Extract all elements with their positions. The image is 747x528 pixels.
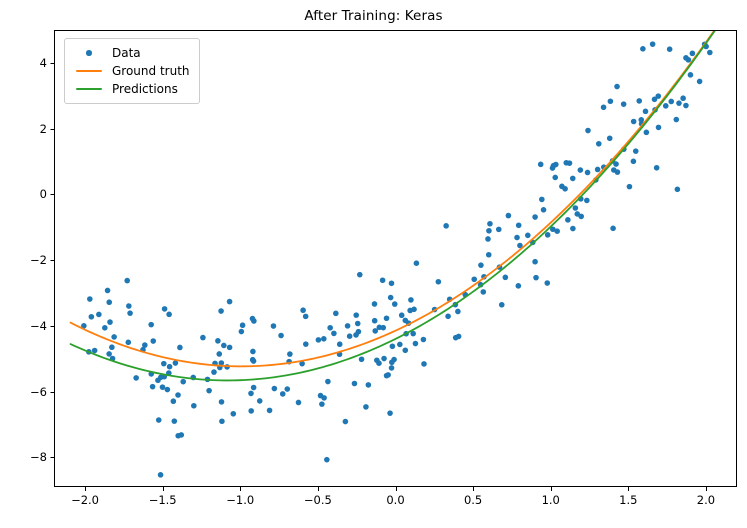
- data-point: [525, 233, 531, 239]
- data-point: [89, 314, 95, 320]
- legend-item-ground-truth: Ground truth: [72, 62, 190, 80]
- data-point: [544, 280, 550, 286]
- y-tick-mark: [51, 260, 55, 261]
- data-point: [688, 72, 694, 78]
- data-point: [240, 322, 246, 328]
- data-point: [324, 457, 330, 463]
- data-point: [250, 349, 256, 355]
- data-point: [372, 318, 378, 324]
- data-point: [614, 84, 620, 90]
- data-point: [539, 197, 545, 203]
- data-scatter-layer: [81, 41, 713, 477]
- data-point: [257, 398, 263, 404]
- data-point: [175, 392, 181, 398]
- x-tick-label: 0.5: [464, 493, 482, 507]
- data-point: [596, 141, 602, 147]
- data-point: [216, 351, 222, 357]
- data-point: [165, 387, 171, 393]
- y-tick-label: −4: [30, 319, 47, 333]
- data-point: [631, 119, 637, 125]
- data-point: [389, 365, 395, 371]
- data-point: [421, 337, 427, 343]
- data-point: [325, 379, 331, 385]
- data-point: [408, 297, 414, 303]
- data-point: [707, 50, 713, 56]
- data-point: [392, 301, 398, 307]
- data-point: [372, 328, 378, 334]
- data-point: [353, 312, 359, 318]
- y-tick-mark: [51, 457, 55, 458]
- data-point: [644, 130, 650, 136]
- data-point: [239, 329, 245, 335]
- data-point: [506, 213, 512, 219]
- data-point: [683, 103, 689, 109]
- data-point: [180, 379, 186, 385]
- x-tick-label: −0.5: [304, 493, 332, 507]
- data-point: [640, 46, 646, 52]
- data-point: [303, 314, 309, 320]
- data-point: [443, 223, 449, 229]
- data-point: [496, 227, 502, 233]
- data-point: [150, 338, 156, 344]
- data-point: [124, 278, 130, 284]
- data-point: [478, 262, 484, 268]
- data-point: [584, 198, 590, 204]
- data-point: [570, 176, 576, 182]
- y-tick-mark: [51, 326, 55, 327]
- data-point: [570, 226, 576, 232]
- data-point: [126, 303, 132, 309]
- data-point: [384, 373, 390, 379]
- data-point: [107, 319, 113, 325]
- data-point: [573, 205, 579, 211]
- chart-legend[interactable]: Data Ground truth Predictions: [64, 38, 200, 104]
- data-point: [554, 228, 560, 234]
- data-point: [486, 228, 492, 234]
- data-point: [654, 165, 660, 171]
- data-point: [485, 236, 491, 242]
- data-point: [321, 395, 327, 401]
- data-point: [337, 341, 343, 347]
- x-tick-label: −1.5: [149, 493, 177, 507]
- data-point: [148, 322, 154, 328]
- data-point: [453, 335, 459, 341]
- data-point: [300, 307, 306, 313]
- data-point: [388, 295, 394, 301]
- x-tick-mark: [473, 487, 474, 491]
- data-point: [436, 279, 442, 285]
- data-point: [516, 222, 522, 228]
- data-point: [321, 336, 327, 342]
- data-point: [380, 277, 386, 283]
- y-tick-label: −8: [30, 450, 47, 464]
- data-point: [357, 272, 363, 278]
- data-point: [413, 341, 419, 347]
- data-point: [366, 382, 372, 388]
- data-point: [402, 347, 408, 353]
- data-point: [211, 369, 217, 375]
- data-point: [636, 98, 642, 104]
- data-point: [643, 109, 649, 115]
- data-point: [125, 340, 131, 346]
- data-point: [553, 162, 559, 168]
- legend-label-data: Data: [112, 46, 141, 60]
- data-point: [680, 95, 686, 101]
- x-tick-mark: [706, 487, 707, 491]
- data-point: [271, 323, 277, 329]
- data-point: [445, 313, 451, 319]
- data-point: [565, 217, 571, 223]
- data-point: [87, 296, 93, 302]
- data-point: [585, 128, 591, 134]
- data-point: [303, 341, 309, 347]
- data-point: [230, 411, 236, 417]
- data-point: [390, 343, 396, 349]
- data-point: [411, 307, 417, 313]
- data-point: [607, 135, 613, 141]
- chart-title: After Training: Keras: [0, 8, 747, 24]
- data-point: [608, 98, 614, 104]
- data-point: [389, 280, 395, 286]
- data-point: [374, 357, 380, 363]
- data-point: [372, 301, 378, 307]
- data-point: [175, 433, 181, 439]
- x-tick-label: 1.0: [542, 493, 560, 507]
- legend-label-predictions: Predictions: [112, 82, 178, 96]
- data-point: [133, 375, 139, 381]
- data-point: [345, 323, 351, 329]
- data-point: [381, 356, 387, 362]
- data-point: [156, 417, 162, 423]
- y-tick-label: −6: [30, 385, 47, 399]
- data-point: [177, 345, 183, 351]
- y-tick-mark: [51, 194, 55, 195]
- data-point: [331, 331, 337, 337]
- data-point: [92, 348, 98, 354]
- data-point: [516, 283, 522, 289]
- data-point: [532, 259, 538, 265]
- data-point: [399, 312, 405, 318]
- data-point: [480, 289, 486, 295]
- data-point: [316, 337, 322, 343]
- legend-label-ground-truth: Ground truth: [112, 64, 190, 78]
- predictions-line-icon: [72, 88, 106, 90]
- data-point: [503, 275, 509, 281]
- y-tick-label: 2: [40, 122, 47, 136]
- data-point: [96, 312, 102, 318]
- data-point: [219, 399, 225, 405]
- data-point: [578, 167, 584, 173]
- data-point: [106, 351, 112, 357]
- data-point: [167, 364, 173, 370]
- data-point: [514, 235, 520, 241]
- data-point: [690, 51, 696, 57]
- data-point: [663, 103, 669, 109]
- data-point: [267, 408, 273, 414]
- data-point: [675, 187, 681, 193]
- data-point: [532, 214, 538, 220]
- data-point: [585, 170, 591, 176]
- data-point: [389, 359, 395, 365]
- data-point: [227, 345, 233, 351]
- data-point: [227, 299, 233, 305]
- data-point: [697, 79, 703, 85]
- data-point: [631, 159, 637, 165]
- data-point: [296, 400, 302, 406]
- x-tick-label: 1.5: [619, 493, 637, 507]
- data-point: [272, 386, 278, 392]
- data-point: [218, 308, 224, 314]
- data-point: [650, 41, 656, 47]
- data-point: [319, 401, 325, 407]
- data-point: [380, 325, 386, 331]
- data-point: [656, 125, 662, 131]
- data-point: [102, 325, 108, 331]
- data-point: [397, 342, 403, 348]
- x-tick-label: −1.0: [226, 493, 254, 507]
- data-point: [250, 316, 256, 322]
- data-point: [191, 403, 197, 409]
- data-point: [533, 275, 539, 281]
- y-tick-label: −2: [30, 253, 47, 267]
- data-point: [633, 148, 639, 154]
- data-point: [162, 306, 168, 312]
- x-tick-mark: [240, 487, 241, 491]
- data-point: [200, 335, 206, 341]
- x-tick-mark: [318, 487, 319, 491]
- data-point: [387, 410, 393, 416]
- x-tick-mark: [551, 487, 552, 491]
- data-point: [251, 385, 257, 391]
- y-tick-label: 4: [40, 56, 47, 70]
- data-point: [160, 384, 166, 390]
- data-point: [171, 398, 177, 404]
- x-tick-mark: [628, 487, 629, 491]
- y-tick-mark: [51, 63, 55, 64]
- data-point: [595, 167, 601, 173]
- x-tick-label: −2.0: [71, 493, 99, 507]
- data-point: [487, 221, 493, 227]
- matplotlib-figure: After Training: Keras 420−2−4−6−8−2.0−1.…: [0, 0, 747, 528]
- data-point: [363, 404, 369, 410]
- data-point: [421, 361, 427, 367]
- data-point: [541, 207, 547, 213]
- x-tick-label: 0.0: [386, 493, 404, 507]
- data-point: [486, 252, 492, 258]
- data-point: [471, 276, 477, 282]
- data-point: [333, 311, 339, 317]
- data-point: [499, 302, 505, 308]
- data-point: [221, 343, 227, 349]
- data-point: [172, 418, 178, 424]
- data-point: [455, 309, 461, 315]
- data-point: [219, 418, 225, 424]
- data-point: [359, 356, 365, 362]
- data-point: [105, 288, 111, 294]
- data-point: [676, 100, 682, 106]
- y-tick-label: 0: [40, 187, 47, 201]
- data-point: [343, 419, 349, 425]
- data-point: [352, 381, 358, 387]
- data-point: [127, 310, 133, 316]
- data-point: [627, 184, 633, 190]
- x-tick-label: 2.0: [697, 493, 715, 507]
- x-tick-mark: [85, 487, 86, 491]
- data-point: [158, 472, 164, 478]
- data-point: [280, 391, 286, 397]
- data-point: [567, 160, 573, 166]
- y-tick-mark: [51, 392, 55, 393]
- data-point: [215, 338, 221, 344]
- data-point: [667, 46, 673, 52]
- data-point: [601, 104, 607, 110]
- data-point: [106, 299, 112, 305]
- data-point: [251, 358, 257, 364]
- data-point: [248, 408, 254, 414]
- data-point: [545, 232, 551, 238]
- data-point: [284, 386, 290, 392]
- data-point: [347, 333, 353, 339]
- data-marker-icon: [72, 50, 106, 56]
- data-point: [278, 333, 284, 339]
- data-point: [414, 260, 420, 266]
- data-point: [161, 361, 167, 367]
- data-point: [615, 169, 621, 175]
- data-point: [327, 325, 333, 331]
- legend-item-data: Data: [72, 44, 190, 62]
- ground-truth-line-icon: [72, 70, 106, 72]
- data-point: [111, 334, 117, 340]
- x-tick-mark: [163, 487, 164, 491]
- data-point: [206, 388, 212, 394]
- data-point: [552, 175, 558, 181]
- data-point: [150, 384, 156, 390]
- data-point: [559, 184, 565, 190]
- x-tick-mark: [396, 487, 397, 491]
- data-point: [287, 351, 293, 357]
- data-point: [574, 211, 580, 217]
- data-point: [248, 391, 254, 397]
- data-point: [610, 226, 616, 232]
- y-tick-mark: [51, 129, 55, 130]
- data-point: [683, 55, 689, 61]
- data-point: [652, 97, 658, 103]
- data-point: [673, 117, 679, 123]
- data-point: [353, 332, 359, 338]
- data-point: [166, 312, 172, 318]
- data-point: [621, 101, 627, 107]
- data-point: [355, 321, 361, 327]
- data-point: [538, 162, 544, 168]
- legend-item-predictions: Predictions: [72, 80, 190, 98]
- data-point: [142, 342, 148, 348]
- data-point: [109, 344, 115, 350]
- data-point: [668, 99, 674, 105]
- data-point: [384, 315, 390, 321]
